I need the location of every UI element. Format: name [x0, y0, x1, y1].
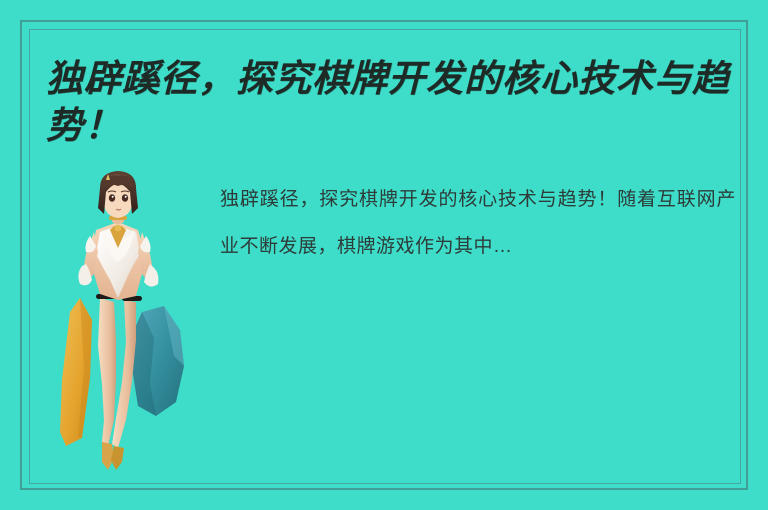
gold-gem: [115, 225, 122, 232]
page-title: 独辟蹊径，探究棋牌开发的核心技术与趋势！: [46, 56, 736, 150]
eye-right: [122, 194, 128, 202]
article-excerpt: 独辟蹊径，探究棋牌开发的核心技术与趋势！随着互联网产业不断发展，棋牌游戏作为其中…: [196, 170, 736, 270]
article-body: 独辟蹊径，探究棋牌开发的核心技术与趋势！随着互联网产业不断发展，棋牌游戏作为其中…: [46, 170, 736, 475]
article-preview-card: 独辟蹊径，探究棋牌开发的核心技术与趋势！: [0, 0, 768, 510]
anime-girl-illustration: [46, 170, 196, 475]
eye-left: [109, 194, 115, 202]
shoe-right: [111, 446, 124, 470]
article-thumbnail[interactable]: [46, 170, 196, 475]
eye-left-glint: [112, 196, 114, 198]
eye-right-glint: [125, 196, 127, 198]
leg-left: [98, 298, 116, 446]
